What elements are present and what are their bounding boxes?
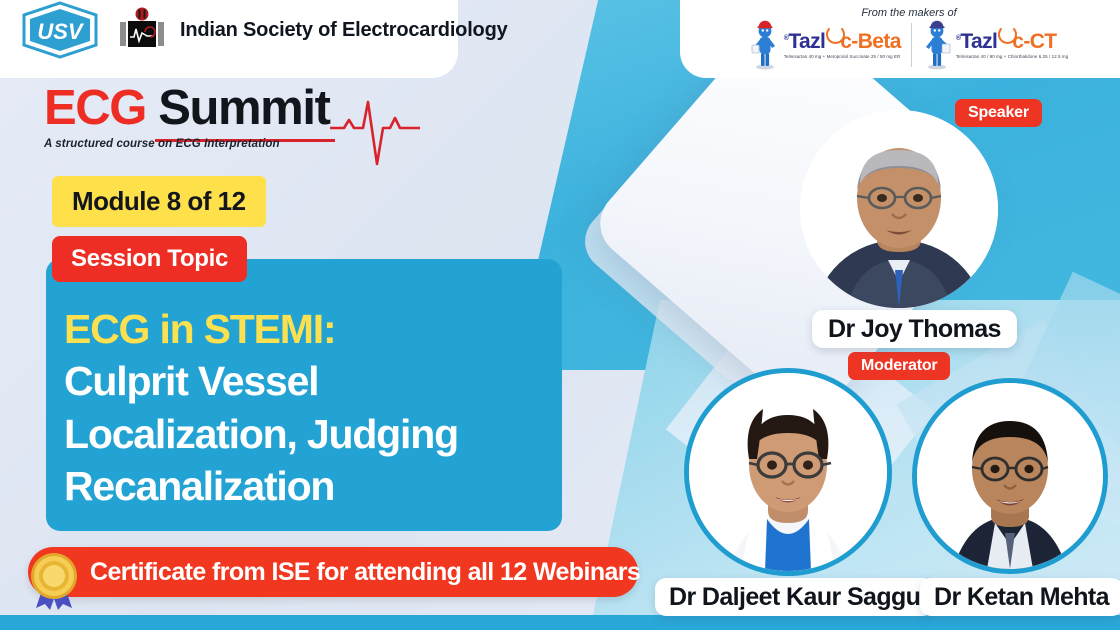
product-subtitle: Telmisartan 40 / 80 mg + Chlorthalidone … [956, 54, 1068, 59]
product-subtitle: Telmisartan 40 mg + Metoprolol Succinate… [784, 54, 901, 59]
page-tagline: A structured course on ECG Interpretatio… [44, 138, 280, 150]
moderator-role-badge: Moderator [848, 352, 950, 380]
certificate-text: Certificate from ISE for attending all 1… [90, 558, 640, 587]
product-tazloc-beta: ®Tazloc-Beta Telmisartan 40 mg + Metopro… [750, 20, 901, 70]
header-right-bar: From the makers of [680, 0, 1120, 78]
header-divider [911, 23, 912, 67]
title-summit: Summit [158, 81, 329, 135]
avatar-speaker [800, 110, 998, 308]
topic-line: Localization, Judging [64, 408, 540, 460]
speaker-name-pill: Dr Joy Thomas [812, 310, 1017, 348]
mascot-icon [922, 20, 952, 70]
avatar-moderator-1 [684, 368, 892, 576]
session-topic-badge: Session Topic [52, 236, 247, 282]
module-badge: Module 8 of 12 [52, 176, 266, 227]
poster-canvas: USV Indian Society of Electrocardiology … [0, 0, 1120, 630]
moderator-1-name-pill: Dr Daljeet Kaur Saggu [655, 578, 934, 616]
from-the-makers-label: From the makers of [861, 7, 956, 19]
topic-line: ECG in STEMI: [64, 303, 540, 355]
ise-logo-icon [120, 7, 164, 53]
moderator-2-name-pill: Dr Ketan Mehta [920, 578, 1120, 616]
o-ring-icon: o [825, 31, 840, 52]
product-name-part1: Tazl [960, 30, 997, 53]
ecg-waveform-icon [330, 98, 420, 168]
session-topic-card: ECG in STEMI: Culprit Vessel Localizatio… [46, 259, 562, 531]
product-name-part2: c-CT [1012, 30, 1056, 53]
topic-line: Recanalization [64, 460, 540, 512]
avatar-moderator-2 [912, 378, 1108, 574]
header-left-bar: USV Indian Society of Electrocardiology [0, 0, 458, 78]
footer-strip [0, 615, 1120, 630]
page-title: ECG Summit [44, 84, 330, 133]
product-name-part2: c-Beta [840, 30, 901, 53]
topic-line: Culprit Vessel [64, 355, 540, 407]
award-medal-icon [26, 548, 84, 610]
usv-logo: USV [16, 1, 104, 59]
mascot-icon [750, 20, 780, 70]
speaker-role-badge: Speaker [955, 99, 1042, 127]
society-name: Indian Society of Electrocardiology [180, 19, 508, 42]
product-tazloc-ct: ®Tazloc-CT Telmisartan 40 / 80 mg + Chlo… [922, 20, 1068, 70]
usv-logo-text: USV [37, 19, 85, 44]
product-name-part1: Tazl [788, 30, 825, 53]
title-ecg: ECG [44, 81, 146, 135]
certificate-banner: Certificate from ISE for attending all 1… [28, 547, 638, 597]
o-ring-icon: o [997, 31, 1012, 52]
